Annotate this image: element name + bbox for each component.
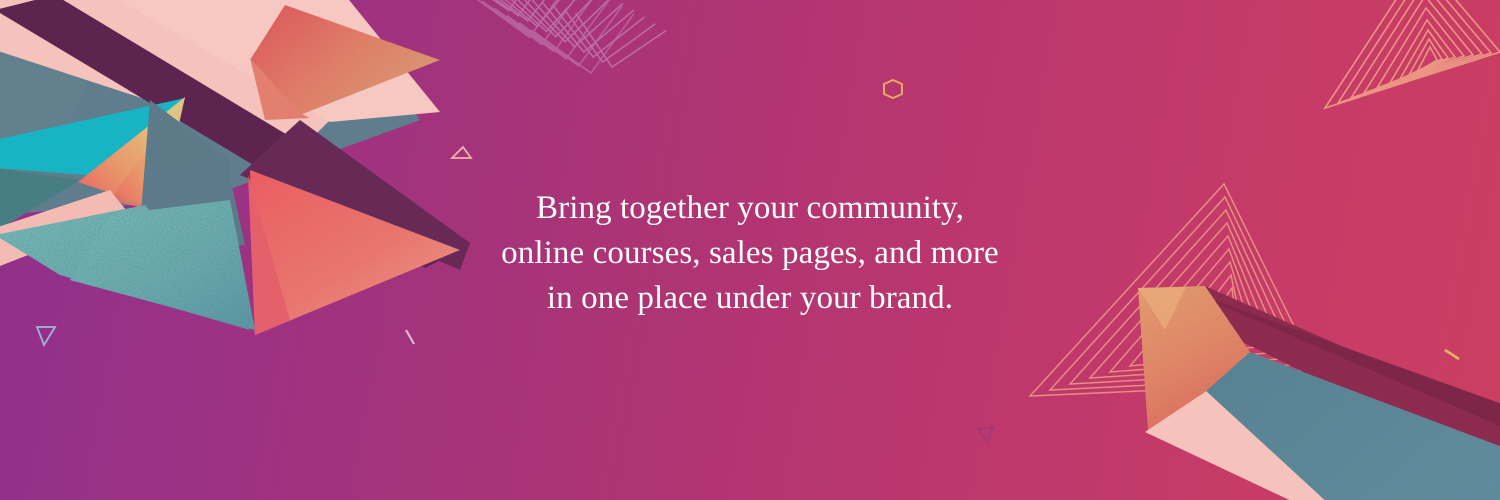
- slash-mark-gold-icon: [1445, 350, 1459, 359]
- hero-banner: Bring together your community, online co…: [0, 0, 1500, 500]
- triangle-outline-periwinkle-icon: [37, 327, 55, 345]
- slash-mark-light-icon: [406, 330, 414, 344]
- hexagon-icon: [884, 80, 902, 98]
- decorative-marks-layer: [0, 0, 1500, 500]
- triangle-outline-purple-icon: [978, 427, 993, 442]
- triangle-outline-pink-icon: [452, 147, 471, 158]
